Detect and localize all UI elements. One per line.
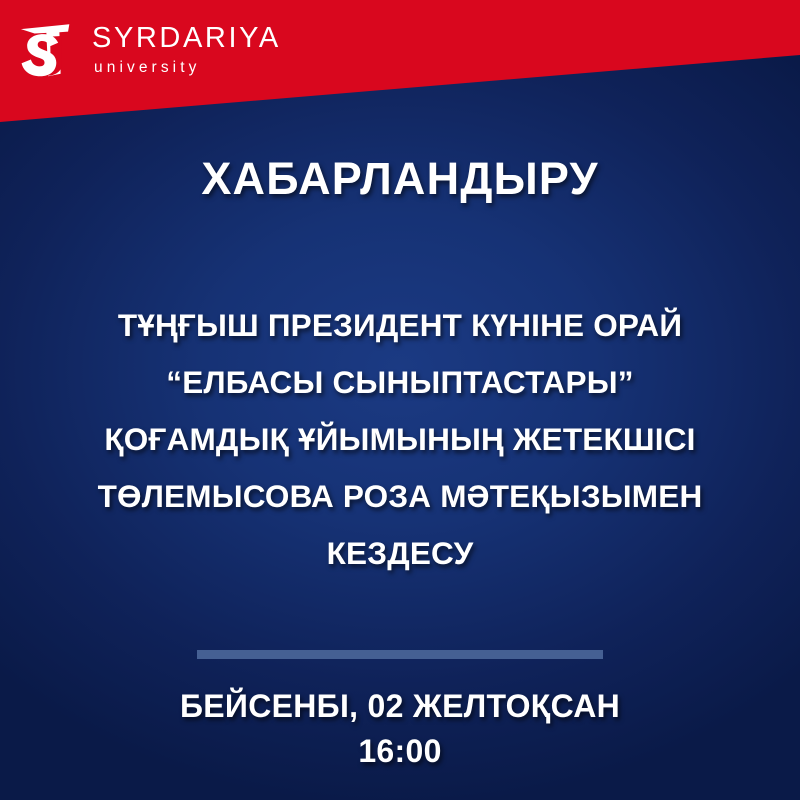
su-monogram-icon [16,18,78,80]
announcement-body: ТҰҢҒЫШ ПРЕЗИДЕНТ КҮНІНЕ ОРАЙ “ЕЛБАСЫ СЫН… [0,297,800,582]
section-divider [197,650,603,659]
body-line: ТҰҢҒЫШ ПРЕЗИДЕНТ КҮНІНЕ ОРАЙ [0,297,800,354]
poster-content: ХАБАРЛАНДЫРУ ТҰҢҒЫШ ПРЕЗИДЕНТ КҮНІНЕ ОРА… [0,0,800,800]
body-line: КЕЗДЕСУ [0,525,800,582]
university-logo: SYRDARIYA university [16,18,281,80]
body-line: ҚОҒАМДЫҚ ҰЙЫМЫНЫҢ ЖЕТЕКШІСІ [0,411,800,468]
logo-name: SYRDARIYA [92,24,281,53]
body-line: ТӨЛЕМЫСОВА РОЗА МӘТЕҚЫЗЫМЕН [0,468,800,525]
event-date: БЕЙСЕНБІ, 02 ЖЕЛТОҚСАН [0,684,800,729]
event-time: 16:00 [0,729,800,773]
logo-subtitle: university [94,60,281,76]
page-title: ХАБАРЛАНДЫРУ [0,153,800,205]
logo-wordmark: SYRDARIYA university [92,22,281,76]
announcement-poster: SYRDARIYA university ХАБАРЛАНДЫРУ ТҰҢҒЫШ… [0,0,800,800]
body-line: “ЕЛБАСЫ СЫНЫПТАСТАРЫ” [0,354,800,411]
event-datetime: БЕЙСЕНБІ, 02 ЖЕЛТОҚСАН 16:00 [0,684,800,773]
